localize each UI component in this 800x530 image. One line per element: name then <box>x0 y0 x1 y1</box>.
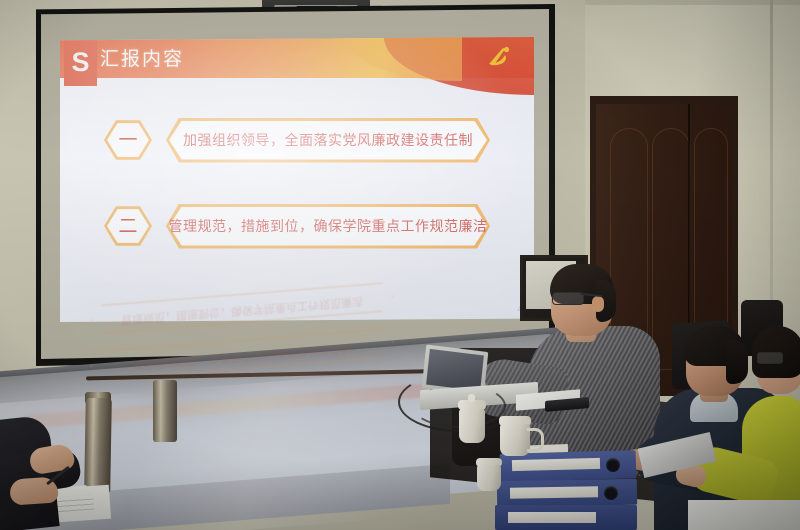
tea-cup[interactable] <box>459 409 485 443</box>
row-number-hexagon: 一 <box>104 119 152 161</box>
binder-spine-label <box>512 458 600 471</box>
attendee-3-glasses <box>757 352 783 364</box>
slide-row: 一 加强组织领导，全面落实党风廉政建设责任制 <box>60 115 534 165</box>
row-text: 加强组织领导，全面落实党风廉政建设责任制 <box>183 130 473 150</box>
row-number-hexagon: 二 <box>104 205 152 247</box>
presenter-ear <box>592 296 604 312</box>
binder-finger-hole <box>606 458 620 472</box>
row-number-label: 一 <box>118 131 137 150</box>
s-badge-letter: S <box>71 49 89 76</box>
projected-slide: S 汇报内容 一 加强组织领导，全面落实党风廉政建设责任制 二 管理规范，措施到… <box>60 37 534 322</box>
cup-handle <box>527 428 544 452</box>
tea-cup[interactable] <box>500 424 530 456</box>
slide-title: 汇报内容 <box>100 44 184 71</box>
row-banner: 管理规范，措施到位，确保学院重点工作规范廉洁 <box>166 204 490 249</box>
cup-lid-knob <box>468 394 475 402</box>
binder-finger-hole <box>604 486 618 500</box>
binder-spine-label <box>510 486 598 499</box>
wall-seam <box>770 0 773 330</box>
ceiling-edge <box>585 0 800 5</box>
slide-s-badge: S <box>64 40 97 86</box>
binder-spine-label <box>508 512 596 523</box>
row-number-label: 二 <box>118 217 137 236</box>
slide-row: 二 管理规范，措施到位，确保学院重点工作规范廉洁 <box>60 201 534 251</box>
party-emblem-icon <box>486 45 512 69</box>
row-banner: 加强组织领导，全面落实党风廉政建设责任制 <box>166 118 490 163</box>
vacuum-flask[interactable] <box>84 398 112 493</box>
meeting-room-photo: S 汇报内容 一 加强组织领导，全面落实党风廉政建设责任制 二 管理规范，措施到… <box>0 0 800 530</box>
tea-cup[interactable] <box>477 465 501 491</box>
vacuum-flask[interactable] <box>153 380 177 442</box>
attendee-2-hair-side <box>726 340 748 384</box>
row-text: 管理规范，措施到位，确保学院重点工作规范廉洁 <box>169 216 488 236</box>
slide-rows: 一 加强组织领导，全面落实党风廉政建设责任制 二 管理规范，措施到位，确保学院重… <box>60 93 534 287</box>
header-gold-swoosh <box>352 37 462 81</box>
document-sheet <box>688 500 800 530</box>
